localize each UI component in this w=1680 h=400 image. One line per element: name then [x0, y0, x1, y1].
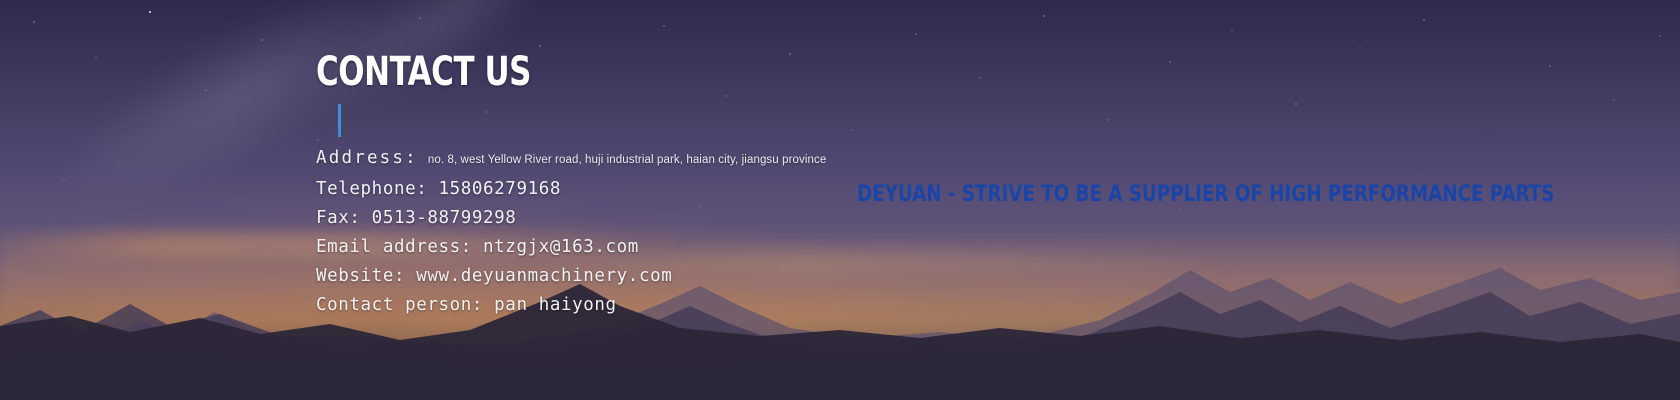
- contact-fax: Fax: 0513-88799298: [316, 204, 836, 233]
- contact-address-row: Address: no. 8, west Yellow River road, …: [316, 144, 836, 175]
- contact-website[interactable]: Website: www.deyuanmachinery.com: [316, 262, 836, 291]
- banner-content: CONTACT US Address: no. 8, west Yellow R…: [0, 0, 1680, 400]
- contact-banner: CONTACT US Address: no. 8, west Yellow R…: [0, 0, 1680, 400]
- contact-block: CONTACT US Address: no. 8, west Yellow R…: [316, 52, 836, 92]
- page-title: CONTACT US: [316, 52, 763, 92]
- address-label: Address:: [316, 144, 418, 173]
- address-value: no. 8, west Yellow River road, huji indu…: [428, 146, 826, 175]
- contact-person: Contact person: pan haiyong: [316, 291, 836, 320]
- contact-telephone: Telephone: 15806279168: [316, 175, 836, 204]
- company-slogan: DEYUAN - STRIVE TO BE A SUPPLIER OF HIGH…: [857, 182, 1554, 207]
- accent-bar: [338, 104, 341, 137]
- contact-details-list: Address: no. 8, west Yellow River road, …: [316, 144, 836, 320]
- contact-email[interactable]: Email address: ntzgjx@163.com: [316, 233, 836, 262]
